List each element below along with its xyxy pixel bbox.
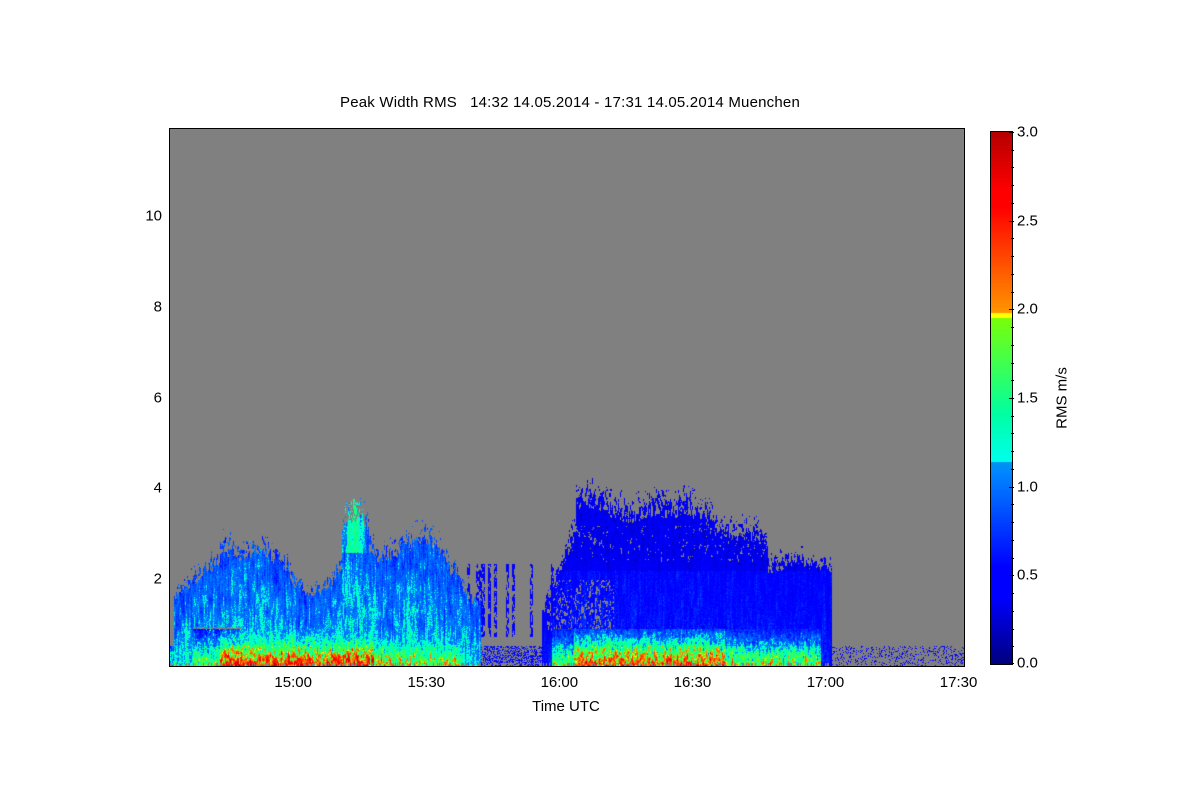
colorbar-tick-minor	[1011, 185, 1014, 186]
colorbar-tick	[1009, 487, 1014, 488]
colorbar-tick-minor	[1011, 327, 1014, 328]
x-tick-major-top	[294, 128, 295, 129]
colorbar-tick-minor	[1011, 256, 1014, 257]
colorbar-tick-label: 1.5	[1017, 390, 1038, 407]
colorbar-tick-minor	[1011, 167, 1014, 168]
x-tick-minor	[773, 666, 774, 667]
y-tick-major	[169, 399, 170, 400]
x-tick-minor-top	[188, 128, 189, 129]
colorbar-tick	[1009, 575, 1014, 576]
y-tick-label: 2	[154, 570, 162, 587]
colorbar-tick-label: 2.5	[1017, 212, 1038, 229]
colorbar-tick-minor	[1011, 292, 1014, 293]
page-title: Peak Width RMS 14:32 14.05.2014 - 17:31 …	[0, 94, 1140, 111]
x-tick-minor	[614, 666, 615, 667]
x-tick-minor-top	[720, 128, 721, 129]
y-tick-major-right	[964, 399, 965, 400]
figure-root: Peak Width RMS 14:32 14.05.2014 - 17:31 …	[0, 0, 1200, 800]
x-tick-minor-top	[321, 128, 322, 129]
colorbar-tick-minor	[1011, 504, 1014, 505]
x-tick-minor-top	[880, 128, 881, 129]
y-tick-minor	[169, 444, 170, 445]
x-tick-label: 15:00	[274, 674, 312, 691]
x-tick-minor-top	[933, 128, 934, 129]
x-tick-minor-top	[454, 128, 455, 129]
x-tick-minor-top	[507, 128, 508, 129]
colorbar-tick-minor	[1011, 345, 1014, 346]
x-tick-minor	[214, 666, 215, 667]
colorbar: 0.00.51.01.52.02.53.0	[990, 131, 1013, 665]
y-tick-major-right	[964, 580, 965, 581]
heatmap-plot-area: Height AGL km	[169, 128, 965, 667]
y-tick-label: 6	[154, 389, 162, 406]
y-tick-major-right	[964, 489, 965, 490]
y-tick-major-right	[964, 308, 965, 309]
x-tick-minor-top	[534, 128, 535, 129]
y-axis-tick-labels: 246810	[119, 128, 162, 665]
y-tick-label: 4	[154, 480, 162, 497]
x-tick-minor	[374, 666, 375, 667]
x-tick-minor-top	[374, 128, 375, 129]
x-tick-minor-top	[214, 128, 215, 129]
x-tick-major	[294, 666, 295, 667]
colorbar-tick-minor	[1011, 522, 1014, 523]
y-tick-minor	[169, 353, 170, 354]
colorbar-tick-label: 3.0	[1017, 124, 1038, 141]
x-tick-minor-top	[401, 128, 402, 129]
y-tick-minor-right	[964, 172, 965, 173]
x-tick-minor	[188, 666, 189, 667]
colorbar-tick	[1009, 663, 1014, 664]
x-axis-title: Time UTC	[169, 698, 963, 715]
x-tick-minor	[268, 666, 269, 667]
colorbar-tick	[1009, 309, 1014, 310]
x-tick-minor	[640, 666, 641, 667]
colorbar-tick	[1009, 132, 1014, 133]
x-tick-major-top	[560, 128, 561, 129]
colorbar-tick-label: 0.0	[1017, 655, 1038, 672]
x-tick-minor-top	[640, 128, 641, 129]
y-tick-minor	[169, 172, 170, 173]
colorbar-tick-minor	[1011, 363, 1014, 364]
colorbar-tick-minor	[1011, 611, 1014, 612]
x-tick-minor	[587, 666, 588, 667]
x-tick-minor-top	[241, 128, 242, 129]
colorbar-tick-minor	[1011, 433, 1014, 434]
colorbar-tick	[1009, 398, 1014, 399]
colorbar-tick-minor	[1011, 540, 1014, 541]
y-tick-minor-right	[964, 353, 965, 354]
colorbar-tick-label: 1.0	[1017, 478, 1038, 495]
x-tick-label: 15:30	[407, 674, 445, 691]
x-tick-major	[960, 666, 961, 667]
x-tick-minor-top	[667, 128, 668, 129]
y-tick-minor-right	[964, 625, 965, 626]
x-tick-minor	[454, 666, 455, 667]
x-tick-minor	[906, 666, 907, 667]
x-tick-minor-top	[747, 128, 748, 129]
y-tick-major-right	[964, 217, 965, 218]
x-tick-minor	[401, 666, 402, 667]
y-tick-minor-right	[964, 263, 965, 264]
y-tick-minor	[169, 263, 170, 264]
colorbar-tick-minor	[1011, 629, 1014, 630]
x-axis-tick-labels: 15:0015:3016:0016:3017:0017:30	[169, 674, 963, 698]
colorbar-tick-minor	[1011, 150, 1014, 151]
colorbar-tick-minor	[1011, 416, 1014, 417]
heatmap-data-canvas	[170, 129, 964, 666]
x-tick-minor	[241, 666, 242, 667]
y-tick-major	[169, 308, 170, 309]
colorbar-tick-minor	[1011, 469, 1014, 470]
colorbar-tick-minor	[1011, 593, 1014, 594]
x-tick-minor	[481, 666, 482, 667]
x-tick-minor-top	[268, 128, 269, 129]
x-tick-minor-top	[853, 128, 854, 129]
x-tick-minor	[880, 666, 881, 667]
x-tick-label: 16:30	[674, 674, 712, 691]
x-tick-minor-top	[481, 128, 482, 129]
colorbar-tick-minor	[1011, 451, 1014, 452]
x-tick-major	[826, 666, 827, 667]
x-tick-minor	[507, 666, 508, 667]
colorbar-tick-label: 2.0	[1017, 301, 1038, 318]
x-tick-minor-top	[587, 128, 588, 129]
x-tick-minor	[534, 666, 535, 667]
x-tick-label: 17:00	[807, 674, 845, 691]
x-tick-major-top	[960, 128, 961, 129]
colorbar-tick-label: 0.5	[1017, 567, 1038, 584]
y-tick-major	[169, 489, 170, 490]
y-tick-minor	[169, 625, 170, 626]
x-tick-minor-top	[800, 128, 801, 129]
x-tick-minor-top	[773, 128, 774, 129]
x-tick-major	[427, 666, 428, 667]
y-tick-minor-right	[964, 444, 965, 445]
x-tick-minor	[321, 666, 322, 667]
x-tick-minor	[667, 666, 668, 667]
colorbar-tick-minor	[1011, 238, 1014, 239]
x-tick-major-top	[693, 128, 694, 129]
y-tick-major	[169, 580, 170, 581]
x-tick-minor	[720, 666, 721, 667]
colorbar-tick-minor	[1011, 203, 1014, 204]
colorbar-tick	[1009, 221, 1014, 222]
y-tick-minor	[169, 535, 170, 536]
x-tick-minor	[347, 666, 348, 667]
y-tick-major	[169, 217, 170, 218]
y-tick-label: 8	[154, 299, 162, 316]
x-tick-label: 16:00	[541, 674, 579, 691]
colorbar-tick-minor	[1011, 274, 1014, 275]
x-tick-label: 17:30	[940, 674, 978, 691]
x-tick-minor-top	[906, 128, 907, 129]
y-tick-minor-right	[964, 535, 965, 536]
y-tick-label: 10	[145, 208, 162, 225]
x-tick-minor	[853, 666, 854, 667]
colorbar-title: RMS m/s	[1054, 318, 1071, 478]
x-tick-minor-top	[347, 128, 348, 129]
x-tick-minor	[800, 666, 801, 667]
colorbar-tick-minor	[1011, 380, 1014, 381]
x-tick-major	[560, 666, 561, 667]
x-tick-major	[693, 666, 694, 667]
x-tick-major-top	[427, 128, 428, 129]
x-tick-minor-top	[614, 128, 615, 129]
x-tick-minor	[933, 666, 934, 667]
x-tick-major-top	[826, 128, 827, 129]
x-tick-minor	[747, 666, 748, 667]
colorbar-tick-minor	[1011, 646, 1014, 647]
colorbar-tick-minor	[1011, 558, 1014, 559]
